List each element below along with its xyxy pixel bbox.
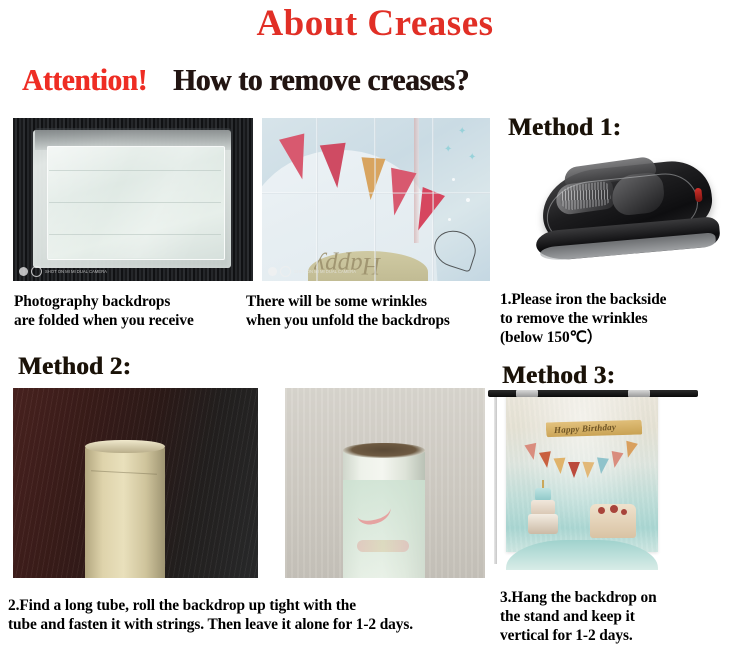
crease-line: [262, 192, 490, 194]
watermark-ring: [31, 266, 42, 277]
caption-method-3: 3.Hang the backdrop on the stand and kee…: [500, 588, 746, 645]
cardboard-tube: [85, 446, 165, 578]
bunting-flag: [568, 462, 580, 478]
tube-rim: [85, 440, 165, 453]
crease-line: [316, 118, 318, 281]
photo-folded-backdrop: SHOT ON MI MI DUAL CAMERA: [13, 118, 253, 281]
caption-photo-1: Photography backdrops are folded when yo…: [14, 292, 244, 330]
berry: [610, 505, 618, 513]
cake-tier: [528, 514, 558, 534]
method-3-heading: Method 3:: [502, 362, 615, 390]
photo-hung-backdrop: Happy Birthday: [488, 388, 698, 578]
fold-line: [49, 202, 221, 203]
caption-method-1: 1.Please iron the backside to remove the…: [500, 290, 748, 347]
photo-rolled-backdrop: [285, 388, 485, 578]
camera-watermark: SHOT ON MI MI DUAL CAMERA: [19, 266, 107, 277]
fold-line: [49, 234, 221, 235]
hanging-backdrop: Happy Birthday: [506, 392, 658, 552]
fold-line: [49, 170, 221, 171]
tube-opening: [343, 443, 425, 458]
photo-cardboard-tube: [13, 388, 258, 578]
caption-method-2: 2.Find a long tube, roll the backdrop up…: [8, 596, 478, 634]
watermark-dot: [268, 267, 277, 276]
cake-prop: [528, 488, 558, 540]
bunting-flag: [595, 457, 609, 474]
watermark-dot: [19, 267, 28, 276]
watermark-text: SHOT ON MI MI DUAL CAMERA: [45, 269, 107, 274]
photo-wrinkled-backdrop: Happy ✦ ✦ ✦ SHOT ON MI MI DUAL CAMERA: [262, 118, 490, 281]
sparkle: [448, 218, 451, 221]
photo-iron: [520, 148, 730, 278]
berry: [598, 507, 605, 514]
crease-line: [432, 118, 434, 281]
bunting-flag: [539, 451, 553, 469]
bunting-flag: [359, 157, 386, 201]
subtitle-row: Attention! How to remove creases?: [22, 62, 732, 98]
bunting-flag: [320, 143, 350, 189]
attention-label: Attention!: [22, 62, 147, 98]
question-heading: How to remove creases?: [173, 62, 469, 98]
stand-leg: [494, 394, 497, 564]
backdrop-clamp: [628, 390, 650, 397]
dessert-table-prop: [590, 504, 636, 538]
berry: [621, 509, 627, 515]
star-icon: ✦: [444, 144, 452, 155]
caption-photo-2: There will be some wrinkles when you unf…: [246, 292, 492, 330]
camera-watermark: SHOT ON MI MI DUAL CAMERA: [268, 266, 356, 277]
iron-indicator: [694, 188, 702, 203]
backdrop-clamp: [516, 390, 538, 397]
backdrop-pattern: [343, 480, 425, 578]
sparkle: [452, 178, 455, 181]
method-1-heading: Method 1:: [508, 114, 621, 142]
method-2-heading: Method 2:: [18, 353, 131, 381]
crease-line: [374, 118, 376, 281]
star-icon: ✦: [458, 126, 466, 137]
bunting-flag: [582, 462, 595, 479]
backdrop-swirl: [429, 225, 480, 272]
infographic-page: About Creases Attention! How to remove c…: [0, 0, 750, 650]
watermark-text: SHOT ON MI MI DUAL CAMERA: [294, 269, 356, 274]
bunting-flag: [553, 458, 566, 475]
star-icon: ✦: [468, 152, 476, 163]
page-title: About Creases: [0, 2, 750, 45]
cake-tier: [531, 500, 555, 515]
backdrop-mark: [357, 540, 409, 552]
sparkle: [466, 198, 470, 202]
watermark-ring: [280, 266, 291, 277]
